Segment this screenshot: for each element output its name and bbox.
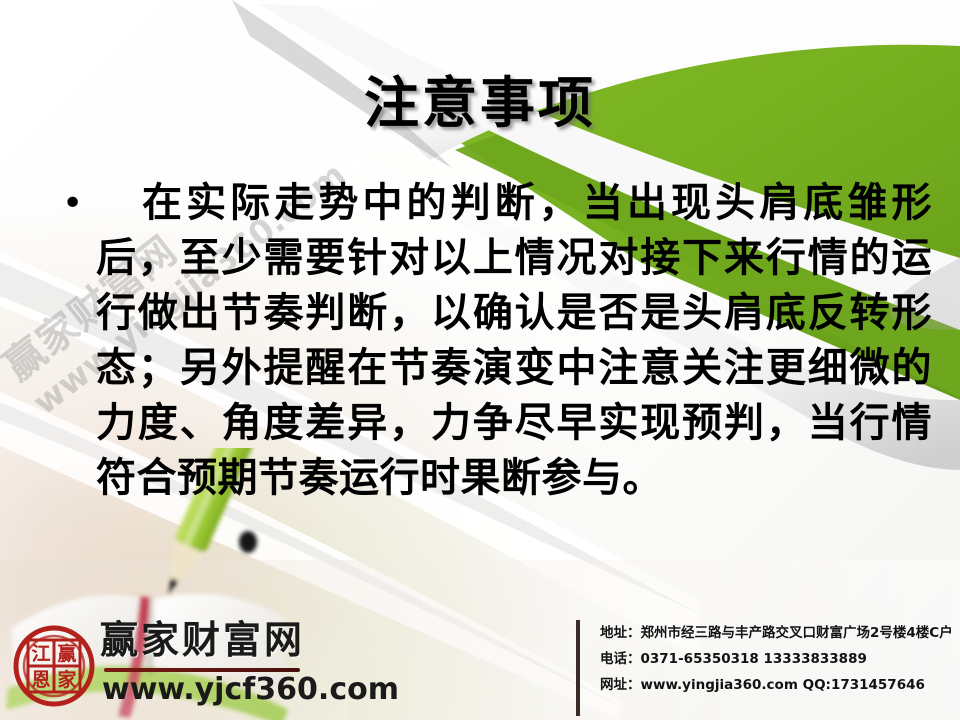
contact-line-address: 地址：郑州市经三路与丰产路交叉口财富广场2号楼4楼C户 xyxy=(600,620,960,646)
svg-text:恩: 恩 xyxy=(31,669,50,691)
svg-text:江: 江 xyxy=(31,643,50,665)
slide-title: 注意事项 xyxy=(0,58,960,138)
body-paragraph: 在实际走势中的判断，当出现头肩底雏形后，至少需要针对以上情况对接下来行情的运行做… xyxy=(96,176,932,506)
logo-url: www.yjcf360.com xyxy=(102,672,399,707)
contact-info-block: 地址：郑州市经三路与丰产路交叉口财富广场2号楼4楼C户 电话：0371-6535… xyxy=(576,620,960,716)
contact-line-phone: 电话：0371-65350318 13333833889 xyxy=(600,646,960,672)
contact-line-website: 网址：www.yingjia360.com QQ:1731457646 xyxy=(600,672,960,698)
logo-brand-name: 赢家财富网 xyxy=(100,618,305,662)
bullet-row: • 在实际走势中的判断，当出现头肩底雏形后，至少需要针对以上情况对接下来行情的运… xyxy=(52,176,932,506)
presentation-slide: 赢家财富网 www.yingjia360.com 注意事项 • 在实际走势中的判… xyxy=(0,0,960,720)
bullet-icon: • xyxy=(52,176,96,231)
brand-logo: 江 赢 恩 家 赢家财富网 www.yjcf360.com xyxy=(8,612,308,716)
slide-body: • 在实际走势中的判断，当出现头肩底雏形后，至少需要针对以上情况对接下来行情的运… xyxy=(52,176,932,506)
svg-text:赢: 赢 xyxy=(57,642,76,665)
contact-website-value: www.yingjia360.com QQ:1731457646 xyxy=(641,677,925,693)
svg-text:家: 家 xyxy=(57,668,77,691)
contact-address-label: 地址： xyxy=(600,625,641,641)
contact-phone-label: 电话： xyxy=(600,651,641,667)
red-seal-icon: 江 赢 恩 家 xyxy=(12,624,96,708)
contact-website-label: 网址： xyxy=(600,677,641,693)
contact-phone-value: 0371-65350318 13333833889 xyxy=(641,651,867,667)
contact-address-value: 郑州市经三路与丰产路交叉口财富广场2号楼4楼C户 xyxy=(641,625,953,641)
